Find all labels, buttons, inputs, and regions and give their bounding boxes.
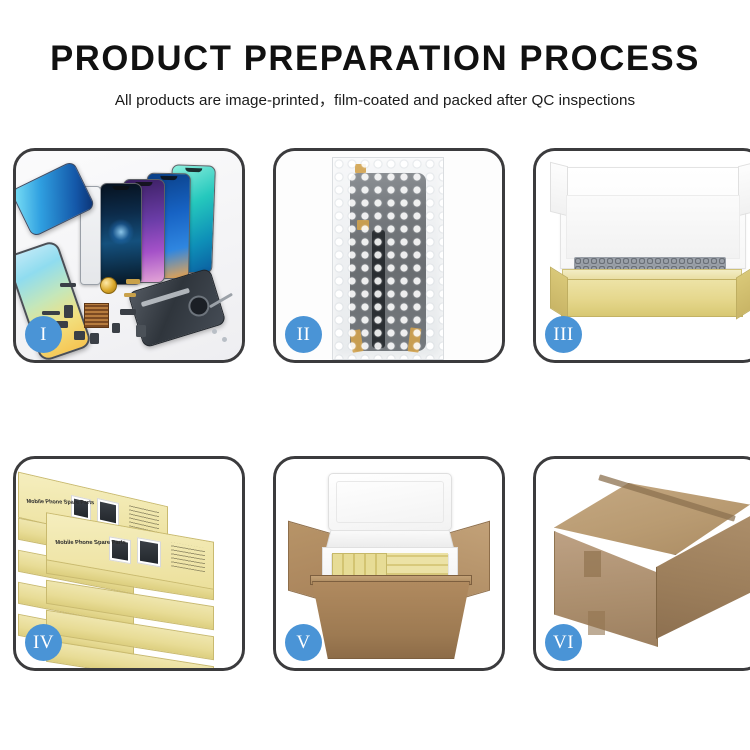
step-image-3: III bbox=[536, 151, 750, 360]
step-image-2: II bbox=[276, 151, 502, 360]
step-panel-3[interactable]: III bbox=[533, 148, 750, 363]
tape-icon bbox=[355, 164, 366, 173]
lcd-screen-icon bbox=[350, 173, 426, 351]
bubble-wrap-pouch-icon bbox=[332, 157, 444, 360]
spare-part-icon bbox=[126, 279, 140, 284]
screw-icon bbox=[212, 329, 217, 334]
steps-grid: I II bbox=[13, 148, 737, 671]
step-image-1: I bbox=[16, 151, 242, 360]
box-front-panel-icon bbox=[561, 279, 743, 317]
step-badge-2: II bbox=[285, 316, 322, 353]
step-panel-4[interactable]: Mobile Phone Spare Parts Mobile Phone Sp… bbox=[13, 456, 245, 671]
spare-part-icon bbox=[64, 305, 73, 318]
tape-icon bbox=[357, 220, 369, 230]
carton-tape-icon bbox=[584, 551, 601, 577]
box-art-thumb bbox=[137, 537, 161, 567]
spare-part-icon bbox=[124, 293, 136, 297]
notch-icon bbox=[185, 168, 202, 173]
step-badge-1: I bbox=[25, 316, 62, 353]
page-title: PRODUCT PREPARATION PROCESS bbox=[4, 41, 747, 78]
box-label-text: Mobile Phone Spare Parts bbox=[55, 540, 126, 546]
step-image-6: VI bbox=[536, 459, 750, 668]
screw-icon bbox=[222, 337, 227, 342]
page-subtitle: All products are image-printed，film-coat… bbox=[0, 88, 750, 110]
step-badge-6: VI bbox=[545, 624, 582, 661]
phone-fan-group bbox=[76, 163, 242, 288]
step-image-4: Mobile Phone Spare Parts Mobile Phone Sp… bbox=[16, 459, 242, 668]
notch-icon bbox=[160, 176, 177, 180]
spare-part-icon bbox=[90, 333, 99, 344]
flex-cable-icon bbox=[372, 230, 385, 348]
header: PRODUCT PREPARATION PROCESS All products… bbox=[0, 0, 750, 110]
step-panel-6[interactable]: VI bbox=[533, 456, 750, 671]
step-panel-5[interactable]: V bbox=[273, 456, 505, 671]
phone-dark-icon bbox=[100, 183, 142, 285]
step-panel-2[interactable]: II bbox=[273, 148, 505, 363]
product-preparation-infographic: PRODUCT PREPARATION PROCESS All products… bbox=[0, 0, 750, 750]
coil-part-icon bbox=[100, 277, 117, 294]
spare-part-icon bbox=[42, 311, 60, 315]
step-image-5: V bbox=[276, 459, 502, 668]
spare-part-icon bbox=[112, 323, 120, 333]
step-badge-4: IV bbox=[25, 624, 62, 661]
spare-part-icon bbox=[60, 283, 76, 287]
step-badge-5: V bbox=[285, 624, 322, 661]
spare-part-icon bbox=[136, 325, 146, 337]
box-label-text: Mobile Phone Spare Parts bbox=[26, 499, 95, 506]
step-panel-1[interactable]: I bbox=[13, 148, 245, 363]
foam-lid-icon bbox=[328, 473, 452, 531]
carton-tape-icon bbox=[588, 611, 605, 635]
chip-part-icon bbox=[84, 303, 109, 328]
spare-part-icon bbox=[74, 331, 85, 340]
step-badge-3: III bbox=[545, 316, 582, 353]
notch-icon bbox=[113, 186, 130, 190]
box-inner-wall bbox=[566, 195, 740, 259]
carton-body-icon bbox=[312, 581, 470, 659]
spare-part-icon bbox=[120, 309, 136, 315]
